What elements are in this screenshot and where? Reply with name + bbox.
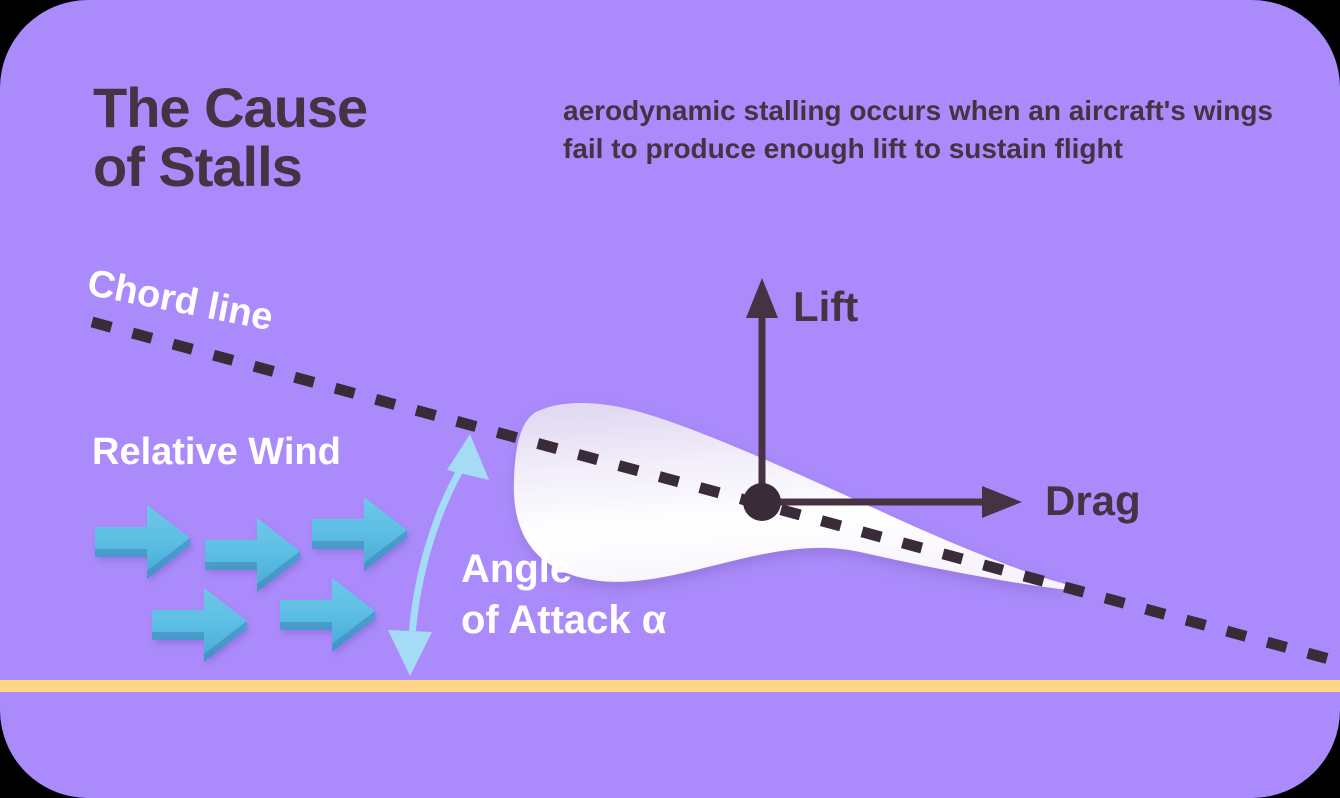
drag-label: Drag [1045,477,1141,525]
ground-reference-line [0,680,1340,692]
wind-arrow [152,588,247,662]
wind-arrow [280,578,375,652]
relative-wind-label: Relative Wind [92,431,341,474]
diagram-graphics-layer [0,0,1340,798]
lift-label: Lift [793,283,858,331]
infographic-canvas: The Cause of Stalls aerodynamic stalling… [0,0,1340,798]
wind-arrow-group [95,497,407,662]
wind-arrow [95,505,190,579]
wind-arrow [205,518,300,592]
angle-of-attack-label: Angle of Attack α [461,544,666,646]
wind-arrow [312,497,407,571]
chord-line [92,322,1340,662]
center-pivot-dot [743,483,781,521]
